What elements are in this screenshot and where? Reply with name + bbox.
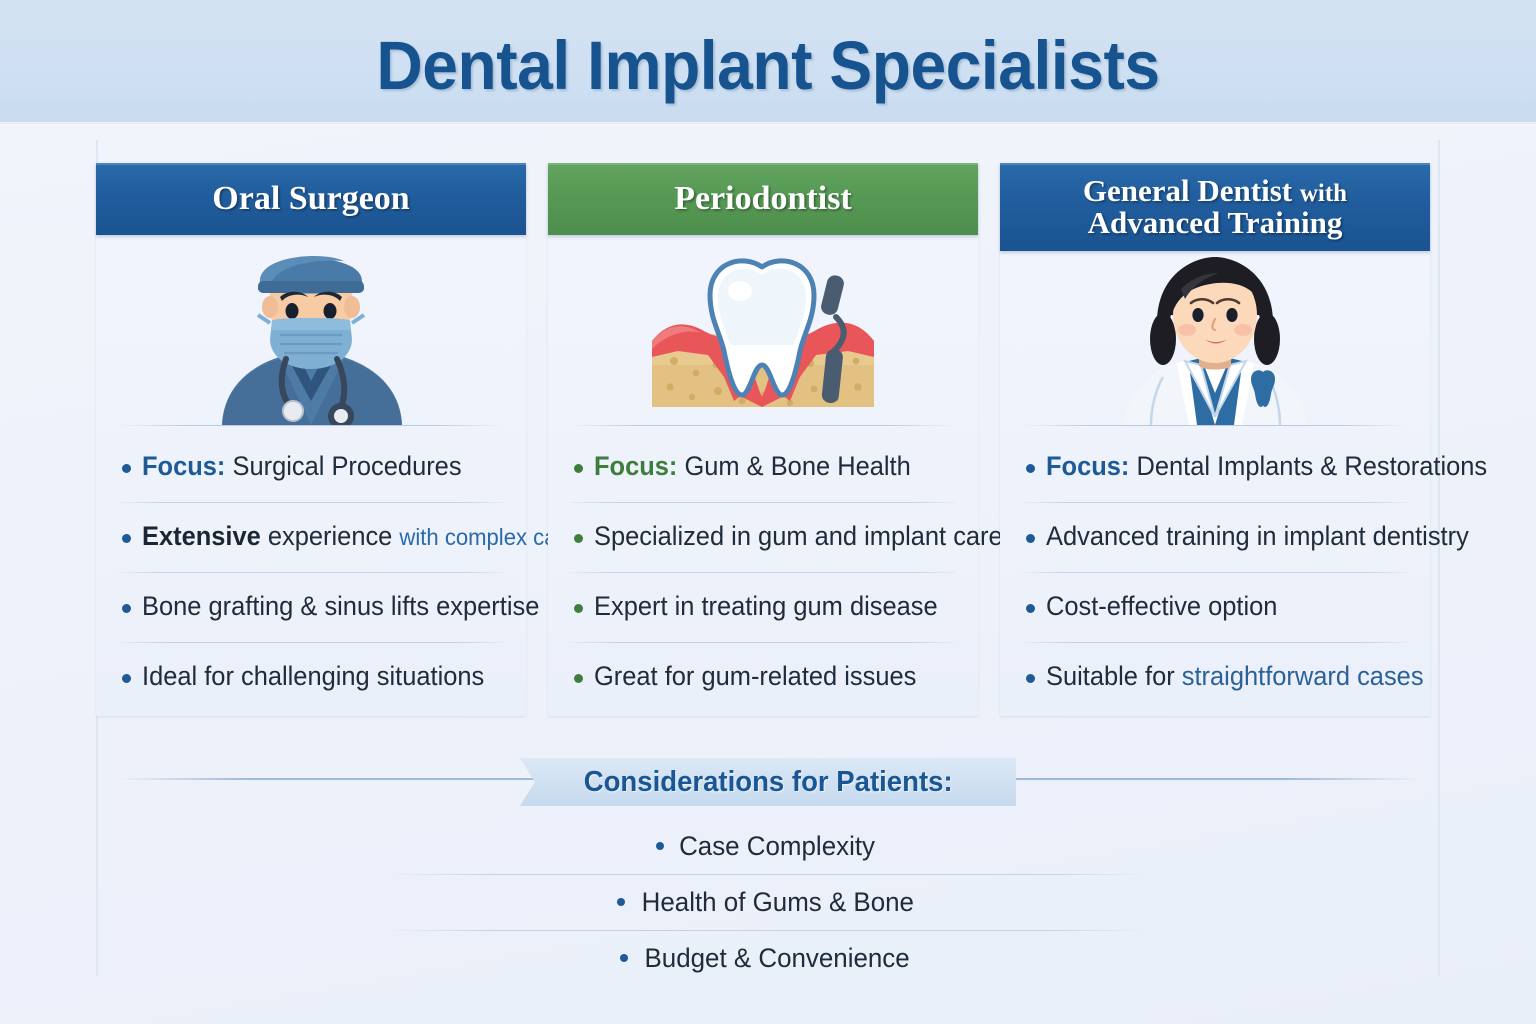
- bullet-list-general-dentist: Focus: Dental Implants & Restorations Ad…: [1000, 426, 1430, 712]
- card-general-dentist[interactable]: General Dentist with Advanced Training: [1000, 163, 1430, 716]
- bullet-dot-icon: [1026, 534, 1035, 543]
- card-header-oral-surgeon: Oral Surgeon: [96, 163, 526, 235]
- page-title: Dental Implant Specialists: [54, 26, 1482, 105]
- consideration-text: Case Complexity: [680, 831, 876, 862]
- bullet-dot-icon: [656, 842, 664, 850]
- considerations-section: Considerations for Patients: Case Comple…: [96, 740, 1440, 990]
- bullet-item: Bone grafting & sinus lifts expertise: [96, 572, 526, 642]
- consideration-item: Budget & Convenience: [318, 930, 1218, 986]
- bullet-item: Focus: Dental Implants & Restorations: [1000, 432, 1430, 502]
- card-title-periodontist: Periodontist: [674, 182, 852, 217]
- bullet-item: Focus: Gum & Bone Health: [548, 432, 978, 502]
- bullet-item: Ideal for challenging situations: [96, 642, 526, 712]
- specialist-cards-row: Oral Surgeon: [96, 163, 1440, 716]
- bullet-list-periodontist: Focus: Gum & Bone Health Specialized in …: [548, 426, 978, 712]
- bullet-dot-icon: [574, 604, 583, 613]
- bullet-dot-icon: [617, 898, 625, 906]
- card-header-periodontist: Periodontist: [548, 163, 978, 235]
- card-title-oral-surgeon: Oral Surgeon: [212, 182, 409, 217]
- bullet-list-oral-surgeon: Focus: Surgical Procedures Extensive exp…: [96, 426, 526, 712]
- bullet-item: Specialized in gum and implant care: [548, 502, 978, 572]
- bullet-text: Focus: Dental Implants & Restorations: [1046, 452, 1487, 482]
- tooth-gum-probe-illustration: [548, 235, 978, 425]
- bullet-text: Specialized in gum and implant care: [594, 522, 1003, 552]
- bullet-dot-icon: [574, 534, 583, 543]
- consideration-item: Health of Gums & Bone: [318, 874, 1218, 930]
- infographic-page: Dental Implant Specialists Oral Surgeon: [0, 0, 1536, 1024]
- female-dentist-illustration: [1000, 251, 1430, 425]
- considerations-title: Considerations for Patients:: [584, 766, 953, 799]
- bullet-text: Bone grafting & sinus lifts expertise: [142, 592, 539, 622]
- bullet-item: Great for gum-related issues: [548, 642, 978, 712]
- surgeon-illustration: [96, 235, 526, 425]
- bullet-item: Extensive experience with complex cases: [96, 502, 526, 572]
- considerations-list: Case Complexity Health of Gums & Bone Bu…: [318, 818, 1218, 986]
- bullet-text: Cost-effective option: [1046, 592, 1277, 622]
- bullet-item: Focus: Surgical Procedures: [96, 432, 526, 502]
- card-oral-surgeon[interactable]: Oral Surgeon: [96, 163, 526, 716]
- considerations-ribbon: Considerations for Patients:: [520, 758, 1016, 806]
- bullet-dot-icon: [620, 954, 628, 962]
- bullet-dot-icon: [1026, 674, 1035, 683]
- consideration-text: Budget & Convenience: [645, 943, 910, 974]
- consideration-text: Health of Gums & Bone: [641, 887, 913, 918]
- bullet-text: Ideal for challenging situations: [142, 662, 484, 692]
- card-periodontist[interactable]: Periodontist: [548, 163, 978, 716]
- bullet-text: Great for gum-related issues: [594, 662, 916, 692]
- bullet-dot-icon: [122, 534, 131, 543]
- bullet-item: Advanced training in implant dentistry: [1000, 502, 1430, 572]
- bullet-item: Suitable for straightforward cases: [1000, 642, 1430, 712]
- bullet-item: Cost-effective option: [1000, 572, 1430, 642]
- card-header-general-dentist: General Dentist with Advanced Training: [1000, 163, 1430, 251]
- bullet-dot-icon: [1026, 464, 1035, 473]
- header-band: Dental Implant Specialists: [0, 0, 1536, 124]
- bullet-text: Suitable for straightforward cases: [1046, 662, 1424, 692]
- bullet-text: Focus: Surgical Procedures: [142, 452, 462, 482]
- bullet-dot-icon: [574, 674, 583, 683]
- bullet-text: Focus: Gum & Bone Health: [594, 452, 911, 482]
- bullet-dot-icon: [122, 464, 131, 473]
- bullet-dot-icon: [122, 674, 131, 683]
- bullet-item: Expert in treating gum disease: [548, 572, 978, 642]
- bullet-dot-icon: [1026, 604, 1035, 613]
- bullet-text: Expert in treating gum disease: [594, 592, 938, 622]
- bullet-text: Advanced training in implant dentistry: [1046, 522, 1469, 552]
- bullet-dot-icon: [574, 464, 583, 473]
- card-title-general-dentist: General Dentist with Advanced Training: [1083, 175, 1347, 238]
- consideration-item: Case Complexity: [318, 818, 1218, 874]
- bullet-dot-icon: [122, 604, 131, 613]
- bullet-text: Extensive experience with complex cases: [142, 522, 591, 552]
